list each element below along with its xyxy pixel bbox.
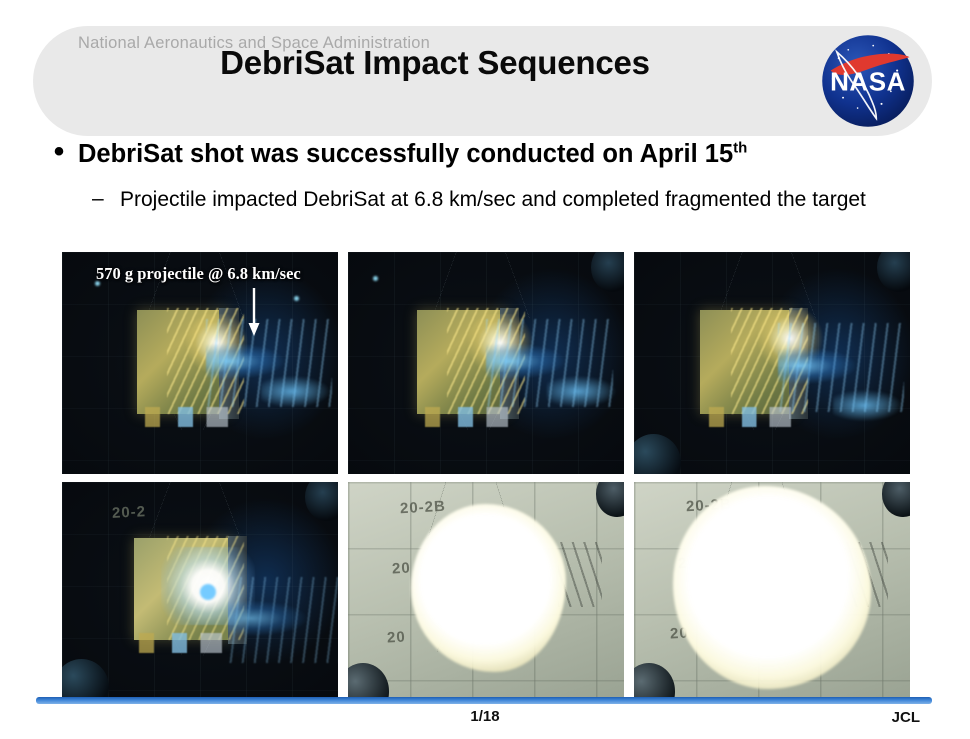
impact-frame-6: 20-2B 2 20	[634, 482, 910, 698]
impact-frame-4: 20-2	[62, 482, 338, 698]
nasa-meatball-logo: NASA	[816, 29, 920, 133]
down-arrow-icon	[247, 288, 261, 336]
footer-divider	[36, 697, 932, 704]
bullet-level-1-superscript: th	[733, 140, 747, 157]
frame-1-scene	[62, 252, 338, 474]
bullet-level-1-text: DebriSat shot was successfully conducted…	[78, 139, 747, 169]
satellite-base-hardware	[145, 407, 228, 427]
impact-frame-1: 570 g projectile @ 6.8 km/sec	[62, 252, 338, 474]
projectile-annotation-label: 570 g projectile @ 6.8 km/sec	[96, 264, 332, 284]
impact-frame-5: 20-2B 20 20	[348, 482, 624, 698]
slide: National Aeronautics and Space Administr…	[0, 0, 970, 739]
frame-3-scene	[634, 252, 910, 474]
impact-frame-3	[634, 252, 910, 474]
bullet-level-1-main: DebriSat shot was successfully conducted…	[78, 140, 733, 168]
satellite-base-hardware	[139, 633, 222, 652]
dash-marker-icon: –	[92, 185, 120, 213]
debris-spray-secondary	[547, 367, 624, 416]
wall-chalk-mark: 20-2	[111, 503, 146, 522]
satellite-base-hardware	[425, 407, 508, 427]
explosion-fireball	[411, 504, 566, 672]
bullet-level-1: • DebriSat shot was successfully conduct…	[40, 139, 940, 169]
debris-spray	[228, 577, 338, 663]
frame-4-scene: 20-2	[62, 482, 338, 698]
bullet-level-2-text: Projectile impacted DebriSat at 6.8 km/s…	[120, 185, 866, 214]
bullet-marker-icon: •	[40, 139, 78, 165]
debris-spray-secondary	[261, 367, 338, 416]
frame-6-scene: 20-2B 2 20	[634, 482, 910, 698]
page-number: 1/18	[0, 708, 970, 725]
bullet-level-2: – Projectile impacted DebriSat at 6.8 km…	[92, 185, 957, 214]
impact-core-glow	[200, 584, 216, 600]
debris-spray-secondary	[833, 381, 910, 430]
frame-5-scene: 20-2B 20 20	[348, 482, 624, 698]
impact-sequence-grid: 570 g projectile @ 6.8 km/sec	[62, 252, 924, 698]
svg-text:NASA: NASA	[830, 66, 906, 96]
satellite-base-hardware	[709, 407, 792, 427]
impact-frame-2	[348, 252, 624, 474]
footer-author-label: JCL	[892, 709, 920, 726]
frame-2-scene	[348, 252, 624, 474]
